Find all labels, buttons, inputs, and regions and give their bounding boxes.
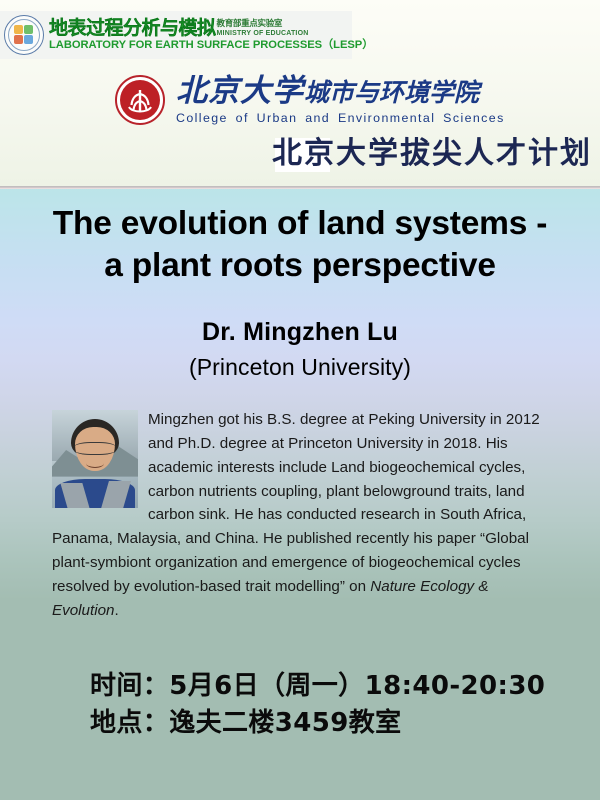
lesp-seal-icon	[2, 13, 46, 57]
lesp-ministry-en: MINISTRY OF EDUCATION	[217, 30, 309, 37]
lesp-logo-block: 地表过程分析与模拟 教育部重点实验室 MINISTRY OF EDUCATION…	[0, 11, 352, 59]
lesp-subtitle-en: LABORATORY FOR EARTH SURFACE PROCESSES（L…	[49, 40, 373, 51]
speaker-portrait-photo	[52, 410, 138, 508]
pku-seal-icon	[112, 72, 168, 128]
event-time: 时间：5月6日（周一）18:40-20:30	[90, 668, 545, 705]
talk-title-line1: The evolution of land systems -	[0, 203, 600, 245]
pku-name-cn-sub: 城市与环境学院	[304, 78, 479, 107]
header-divider-rule	[0, 186, 600, 189]
talk-title: The evolution of land systems - a plant …	[0, 203, 600, 287]
seminar-poster: 地表过程分析与模拟 教育部重点实验室 MINISTRY OF EDUCATION…	[0, 0, 600, 800]
speaker-name: Dr. Mingzhen Lu	[0, 318, 600, 347]
bio-text-part2: .	[114, 602, 118, 619]
program-banner-title: 北京大学拔尖人才计划	[272, 136, 592, 172]
speaker-bio: Mingzhen got his B.S. degree at Peking U…	[52, 408, 554, 623]
speaker-affiliation: (Princeton University)	[0, 354, 600, 381]
pku-logo-block: 北京大学城市与环境学院 College of Urban and Environ…	[112, 72, 505, 128]
event-place: 地点：逸夫二楼3459教室	[90, 705, 545, 742]
lesp-title-cn: 地表过程分析与模拟	[49, 19, 216, 38]
pku-name-en: College of Urban and Environmental Scien…	[176, 111, 505, 125]
talk-title-line2: a plant roots perspective	[0, 245, 600, 287]
event-details: 时间：5月6日（周一）18:40-20:30 地点：逸夫二楼3459教室	[90, 668, 545, 742]
pku-name-cn-main: 北京大学	[176, 73, 304, 109]
lesp-ministry-cn: 教育部重点实验室	[217, 20, 309, 29]
